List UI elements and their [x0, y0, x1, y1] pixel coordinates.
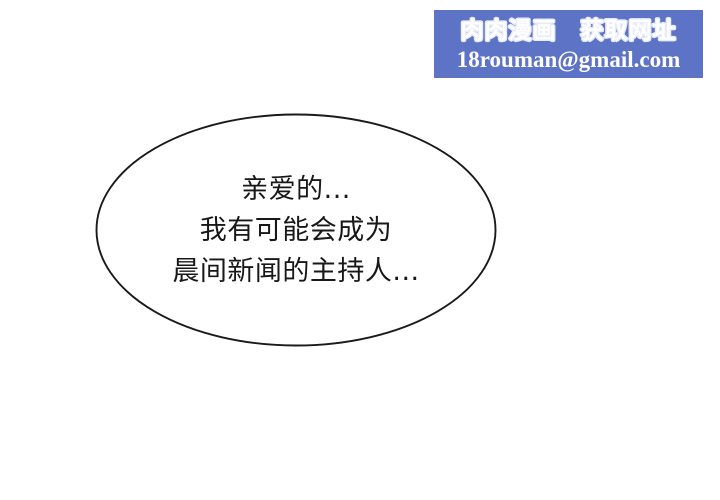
watermark-title: 肉肉漫画 获取网址 — [461, 17, 677, 45]
watermark-banner: 肉肉漫画 获取网址 18rouman@gmail.com — [434, 10, 703, 78]
watermark-email: 18rouman@gmail.com — [457, 46, 681, 73]
speech-bubble-text: 亲爱的... 我有可能会成为 晨间新闻的主持人... — [95, 113, 497, 347]
comic-panel: 亲爱的... 我有可能会成为 晨间新闻的主持人... 肉肉漫画 获取网址 18r… — [0, 0, 720, 500]
speech-bubble-line-3: 晨间新闻的主持人... — [172, 251, 419, 292]
speech-bubble-line-2: 我有可能会成为 — [200, 210, 393, 251]
speech-bubble: 亲爱的... 我有可能会成为 晨间新闻的主持人... — [95, 113, 497, 347]
speech-bubble-line-1: 亲爱的... — [241, 169, 351, 210]
